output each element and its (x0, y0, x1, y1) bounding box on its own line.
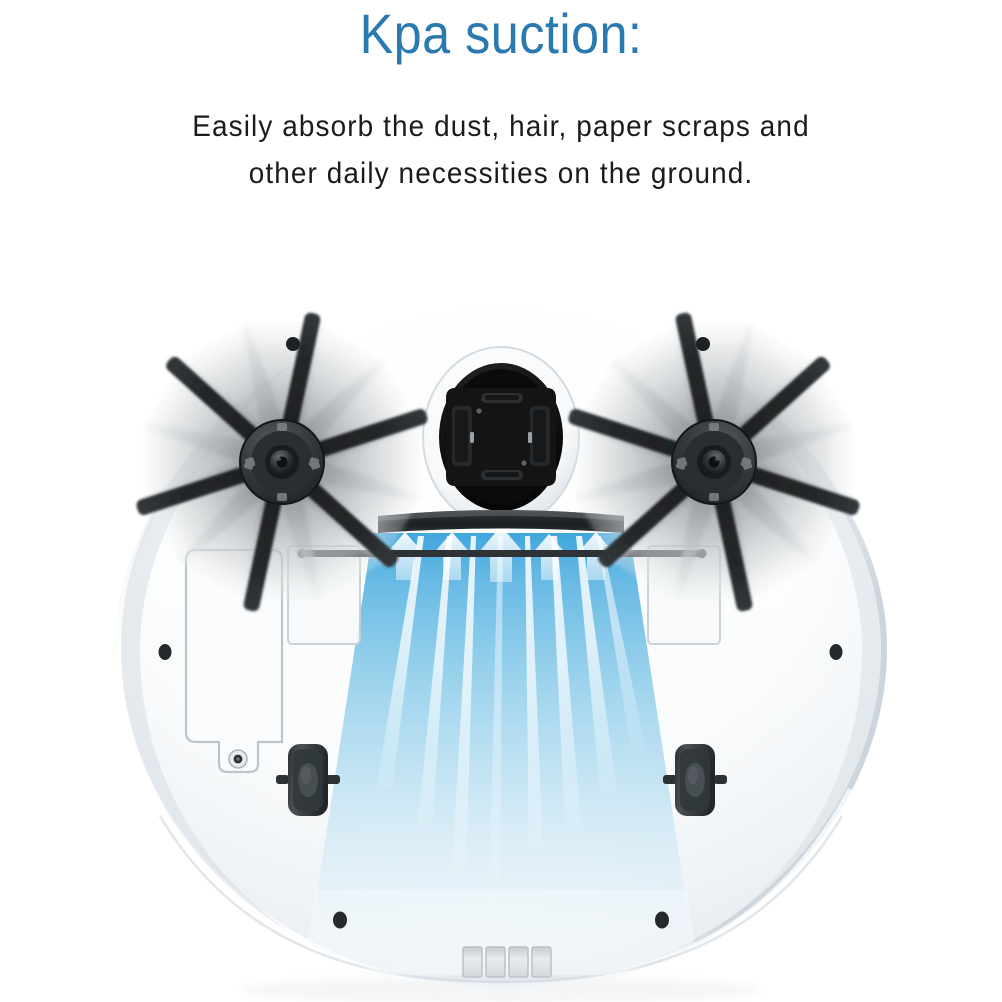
subtitle-line-2: other daily necessities on the ground. (35, 150, 967, 197)
product-image-robot-vacuum (0, 230, 1002, 1002)
page-title: Kpa suction: (50, 3, 952, 65)
suction-port-hub (423, 347, 579, 527)
page-canvas: Kpa suction: Easily absorb the dust, hai… (0, 0, 1002, 1002)
page-subtitle: Easily absorb the dust, hair, paper scra… (35, 103, 967, 197)
subtitle-line-1: Easily absorb the dust, hair, paper scra… (35, 103, 967, 150)
